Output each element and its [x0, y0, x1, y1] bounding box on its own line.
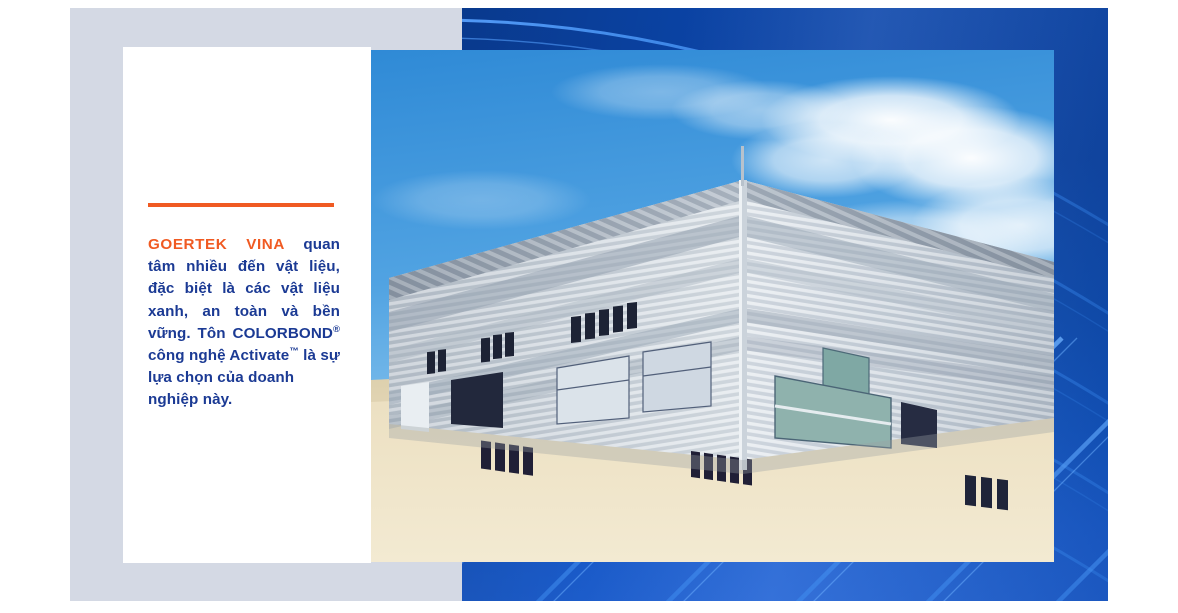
trademark-icon: ™ — [289, 345, 299, 356]
corner-column — [739, 146, 747, 470]
body-text-lastline: nghiệp này. — [148, 389, 340, 411]
poster-canvas: GOERTEK VINA quan tâm nhiều đến vật liệu… — [0, 0, 1178, 613]
brand-name: GOERTEK VINA — [148, 236, 285, 253]
orange-divider-rule — [148, 203, 334, 207]
registered-trademark-icon: ® — [333, 323, 340, 334]
text-block: GOERTEK VINA quan tâm nhiều đến vật liệu… — [148, 203, 340, 412]
body-text-part2: công nghệ Activate — [148, 347, 289, 364]
factory-photo-illustration — [371, 50, 1054, 562]
factory-photo — [371, 50, 1054, 562]
body-paragraph: GOERTEK VINA quan tâm nhiều đến vật liệu… — [148, 234, 340, 412]
